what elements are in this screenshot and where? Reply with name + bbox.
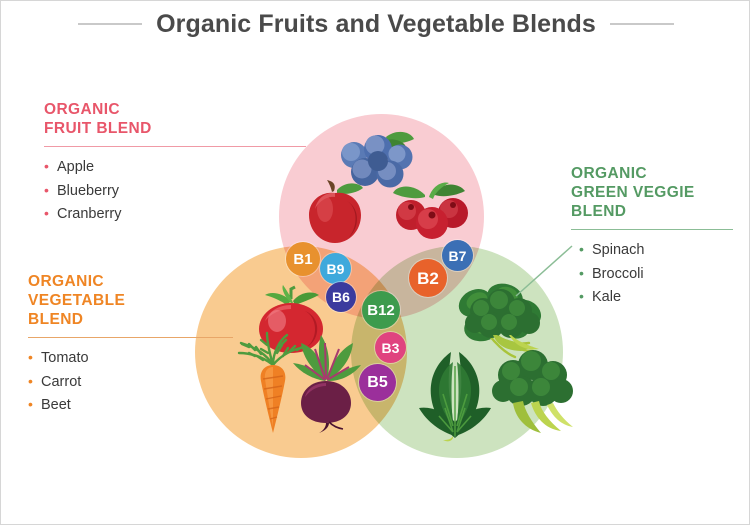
cranberries-image [391, 179, 473, 243]
vitamin-badge-b6[interactable]: B6 [326, 282, 356, 312]
organic-green-heading-line3: BLEND [571, 203, 746, 222]
organic-green-heading-line1: ORGANIC [571, 165, 746, 184]
organic-vegetable-heading-line3: BLEND [28, 311, 238, 330]
organic-fruit-heading-line2: FRUIT BLEND [44, 120, 314, 139]
list-item: Blueberry [44, 180, 314, 203]
organic-vegetable-label-block: ORGANIC VEGETABLE BLEND Tomato Carrot Be… [28, 273, 238, 418]
organic-fruit-item-list: Apple Blueberry Cranberry [44, 156, 314, 226]
vitamin-badge-b5[interactable]: B5 [359, 364, 396, 401]
list-item: Cranberry [44, 203, 314, 226]
infographic-canvas: Organic Fruits and Vegetable Blends [0, 0, 750, 525]
list-item: Kale [579, 286, 746, 309]
page-title: Organic Fruits and Vegetable Blends [156, 10, 596, 39]
title-bar: Organic Fruits and Vegetable Blends [1, 1, 750, 47]
organic-vegetable-rule [28, 337, 233, 339]
organic-green-label-block: ORGANIC GREEN VEGGIE BLEND Spinach Brocc… [571, 165, 746, 310]
vitamin-badge-b7[interactable]: B7 [442, 240, 473, 271]
organic-vegetable-heading-line2: VEGETABLE [28, 292, 238, 311]
beet-image [289, 333, 363, 433]
list-item: Carrot [28, 371, 238, 394]
organic-green-rule [571, 229, 733, 231]
green-leader-line [506, 244, 576, 300]
organic-vegetable-heading: ORGANIC VEGETABLE BLEND [28, 273, 238, 330]
organic-fruit-label-block: ORGANIC FRUIT BLEND Apple Blueberry Cran… [44, 101, 314, 227]
vitamin-badge-b9[interactable]: B9 [320, 253, 351, 284]
list-item: Beet [28, 394, 238, 417]
organic-green-heading: ORGANIC GREEN VEGGIE BLEND [571, 165, 746, 222]
list-item: Tomato [28, 347, 238, 370]
list-item: Apple [44, 156, 314, 179]
organic-green-heading-line2: GREEN VEGGIE [571, 184, 746, 203]
organic-fruit-heading: ORGANIC FRUIT BLEND [44, 101, 314, 139]
organic-vegetable-heading-line1: ORGANIC [28, 273, 238, 292]
vitamin-badge-b12[interactable]: B12 [362, 291, 400, 329]
list-item: Spinach [579, 239, 746, 262]
organic-vegetable-item-list: Tomato Carrot Beet [28, 347, 238, 417]
title-rule-left [78, 23, 142, 25]
organic-green-item-list: Spinach Broccoli Kale [579, 239, 746, 309]
list-item: Broccoli [579, 263, 746, 286]
vitamin-badge-b3[interactable]: B3 [375, 332, 406, 363]
vitamin-badge-b1[interactable]: B1 [286, 242, 320, 276]
broccoli-secondary-image [487, 349, 577, 441]
vitamin-badge-b2[interactable]: B2 [409, 259, 447, 297]
title-rule-right [610, 23, 674, 25]
organic-fruit-heading-line1: ORGANIC [44, 101, 314, 120]
organic-fruit-rule [44, 146, 306, 148]
